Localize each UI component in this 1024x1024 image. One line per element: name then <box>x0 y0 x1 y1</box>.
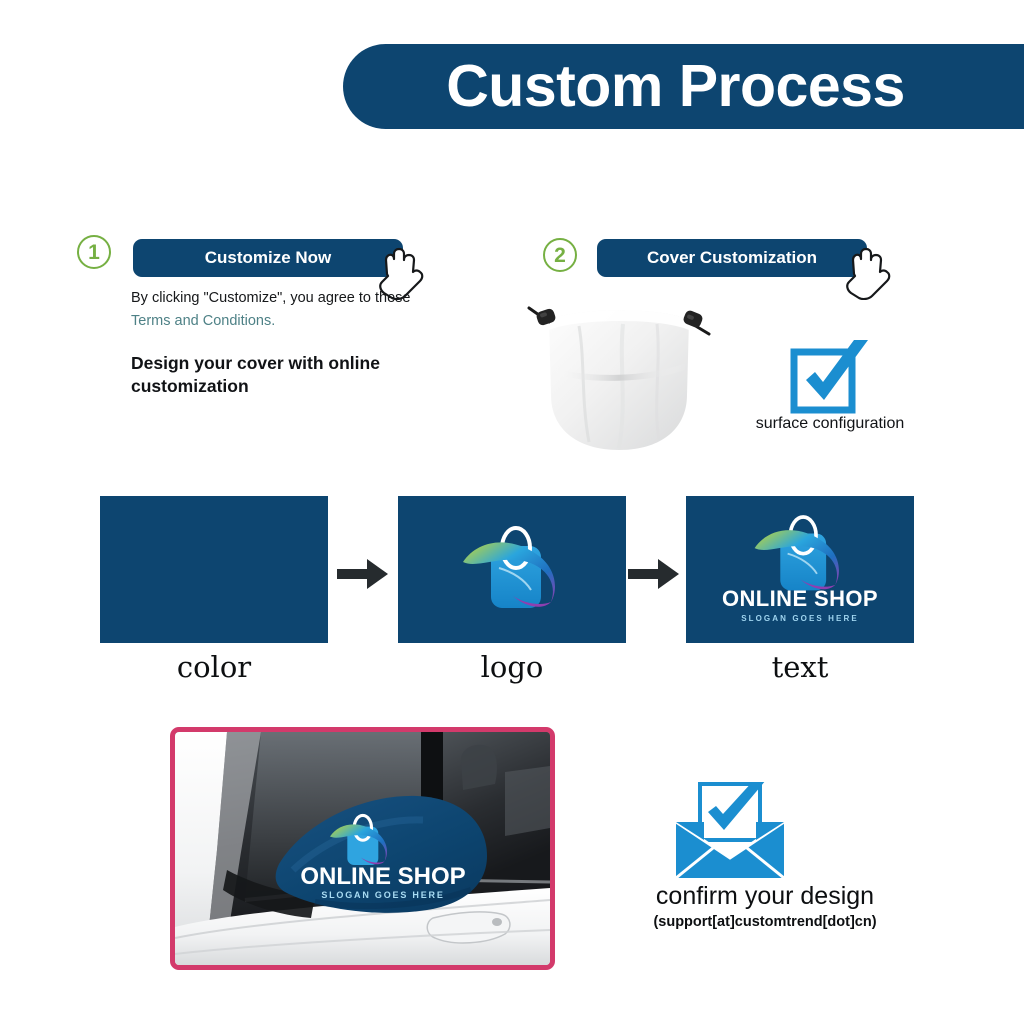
mirror-cover-photo <box>519 300 719 455</box>
infographic-page: Custom Process 1 Customize Now By clicki… <box>0 0 1024 1024</box>
car-mirror-cover-photo: ONLINE SHOP SLOGAN GOES HERE <box>175 732 550 965</box>
terms-and-conditions-link[interactable]: Terms and Conditions. <box>131 313 275 329</box>
brand-name: ONLINE SHOP <box>686 588 914 610</box>
panel-caption-color: color <box>100 650 328 684</box>
cover-customization-label: Cover Customization <box>647 248 817 268</box>
panel-caption-logo: logo <box>398 650 626 684</box>
step-badge-2: 2 <box>543 238 577 272</box>
terms-agreement-text: By clicking "Customize", you agree to th… <box>131 287 431 334</box>
design-heading: Design your cover with online customizat… <box>131 352 431 399</box>
surface-configuration-label: surface configuration <box>718 415 942 433</box>
customize-now-button[interactable]: Customize Now <box>133 239 403 277</box>
panel-color-swatch <box>100 496 328 643</box>
panel-caption-text: text <box>686 650 914 684</box>
arrow-right-icon <box>628 557 680 591</box>
hand-pointer-icon <box>845 246 897 300</box>
shop-bag-logo-icon <box>455 516 570 624</box>
mirror-brand-slogan: SLOGAN GOES HERE <box>321 890 444 900</box>
step-badge-1: 1 <box>77 235 111 269</box>
header-banner: Custom Process <box>343 44 1024 129</box>
confirm-design-title: confirm your design <box>590 883 940 911</box>
brand-block: ONLINE SHOP SLOGAN GOES HERE <box>686 588 914 623</box>
cover-customization-button[interactable]: Cover Customization <box>597 239 867 277</box>
confirm-design-contact: (support[at]customtrend[dot]cn) <box>590 915 940 931</box>
checkbox-check-icon <box>790 338 870 416</box>
customize-now-label: Customize Now <box>205 248 332 268</box>
page-title: Custom Process <box>446 57 921 116</box>
mirror-brand-name: ONLINE SHOP <box>300 863 465 890</box>
agreement-prefix: By clicking "Customize", you agree to th… <box>131 290 410 306</box>
brand-slogan: SLOGAN GOES HERE <box>686 615 914 623</box>
arrow-right-icon <box>337 557 389 591</box>
envelope-check-icon <box>670 782 790 882</box>
car-mirror-photo-frame: ONLINE SHOP SLOGAN GOES HERE <box>170 727 555 970</box>
